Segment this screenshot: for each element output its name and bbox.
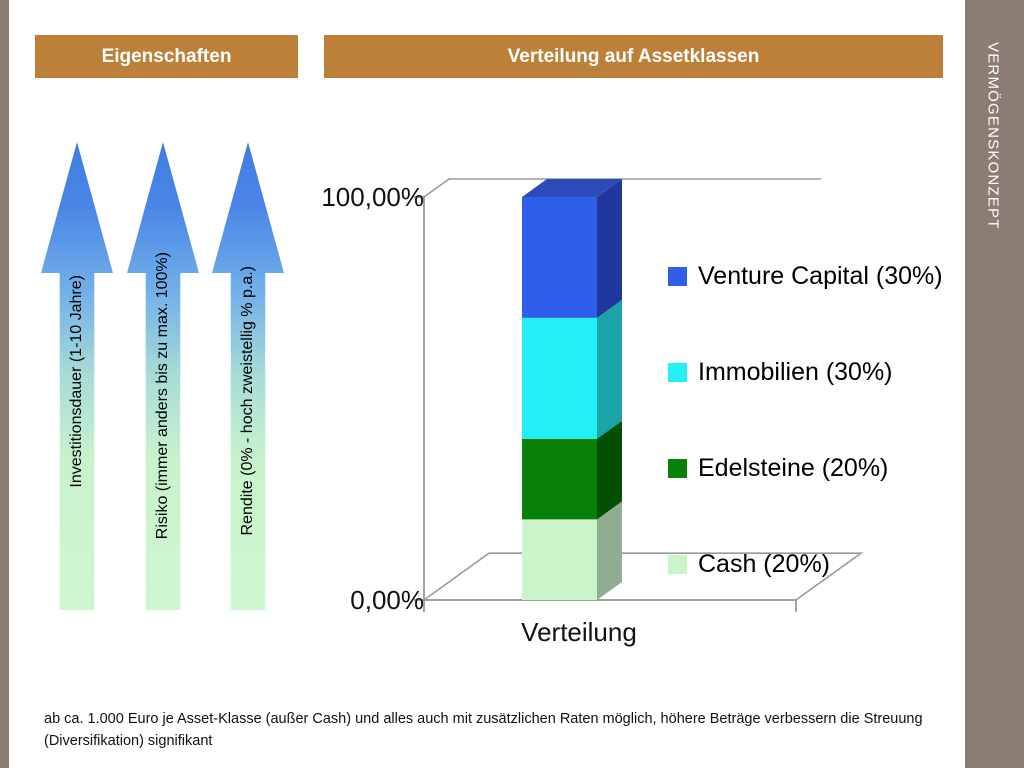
sidebar-brand-text: Vermögenskonzept	[983, 42, 1007, 230]
legend-item: Cash (20%)	[668, 516, 958, 612]
legend-label: Cash (20%)	[698, 550, 830, 579]
banner-verteilung: Verteilung auf Assetklassen	[324, 35, 943, 78]
legend-swatch-icon	[668, 555, 687, 574]
footer-caption: ab ca. 1.000 Euro je Asset-Klasse (außer…	[44, 708, 924, 753]
up-arrow-icon	[127, 142, 199, 610]
bar-segment-side	[597, 179, 622, 318]
legend-label: Immobilien (30%)	[698, 358, 893, 387]
legend-swatch-icon	[668, 459, 687, 478]
legend-item: Venture Capital (30%)	[668, 228, 958, 324]
arrow-risiko: Risiko (immer anders bis zu max. 100%)	[127, 142, 199, 610]
banner-left-label: Eigenschaften	[102, 46, 232, 68]
legend-swatch-icon	[668, 267, 687, 286]
y-axis-tick-bottom: 0,00%	[318, 585, 424, 616]
legend-swatch-icon	[668, 363, 687, 382]
x-axis-title: Verteilung	[434, 617, 724, 648]
legend-item: Edelsteine (20%)	[668, 420, 958, 516]
banner-eigenschaften: Eigenschaften	[35, 35, 298, 78]
up-arrow-icon	[41, 142, 113, 610]
bar-segment-front	[522, 318, 597, 439]
chart-back-top-gridline	[424, 179, 821, 197]
legend-item: Immobilien (30%)	[668, 324, 958, 420]
bar-segment-front	[522, 439, 597, 520]
chart-legend: Venture Capital (30%)Immobilien (30%)Ede…	[668, 228, 958, 612]
y-axis-tick-top: 100,00%	[318, 182, 424, 213]
arrow-investitionsdauer: Investitionsdauer (1-10 Jahre)	[41, 142, 113, 610]
bar-segment-front	[522, 197, 597, 318]
up-arrow-icon	[212, 142, 284, 610]
banner-right-label: Verteilung auf Assetklassen	[508, 46, 760, 68]
arrow-rendite: Rendite (0% - hoch zweistellig % p.a.)	[212, 142, 284, 610]
bar-segment-front	[522, 519, 597, 600]
bar-segment-side	[597, 300, 622, 439]
sidebar-brand-label: Vermögenskonzept	[965, 0, 1024, 768]
legend-label: Edelsteine (20%)	[698, 454, 888, 483]
left-edge-strip	[0, 0, 9, 768]
legend-label: Venture Capital (30%)	[698, 262, 943, 291]
slide-canvas: Vermögenskonzept Eigenschaften Verteilun…	[0, 0, 1024, 768]
